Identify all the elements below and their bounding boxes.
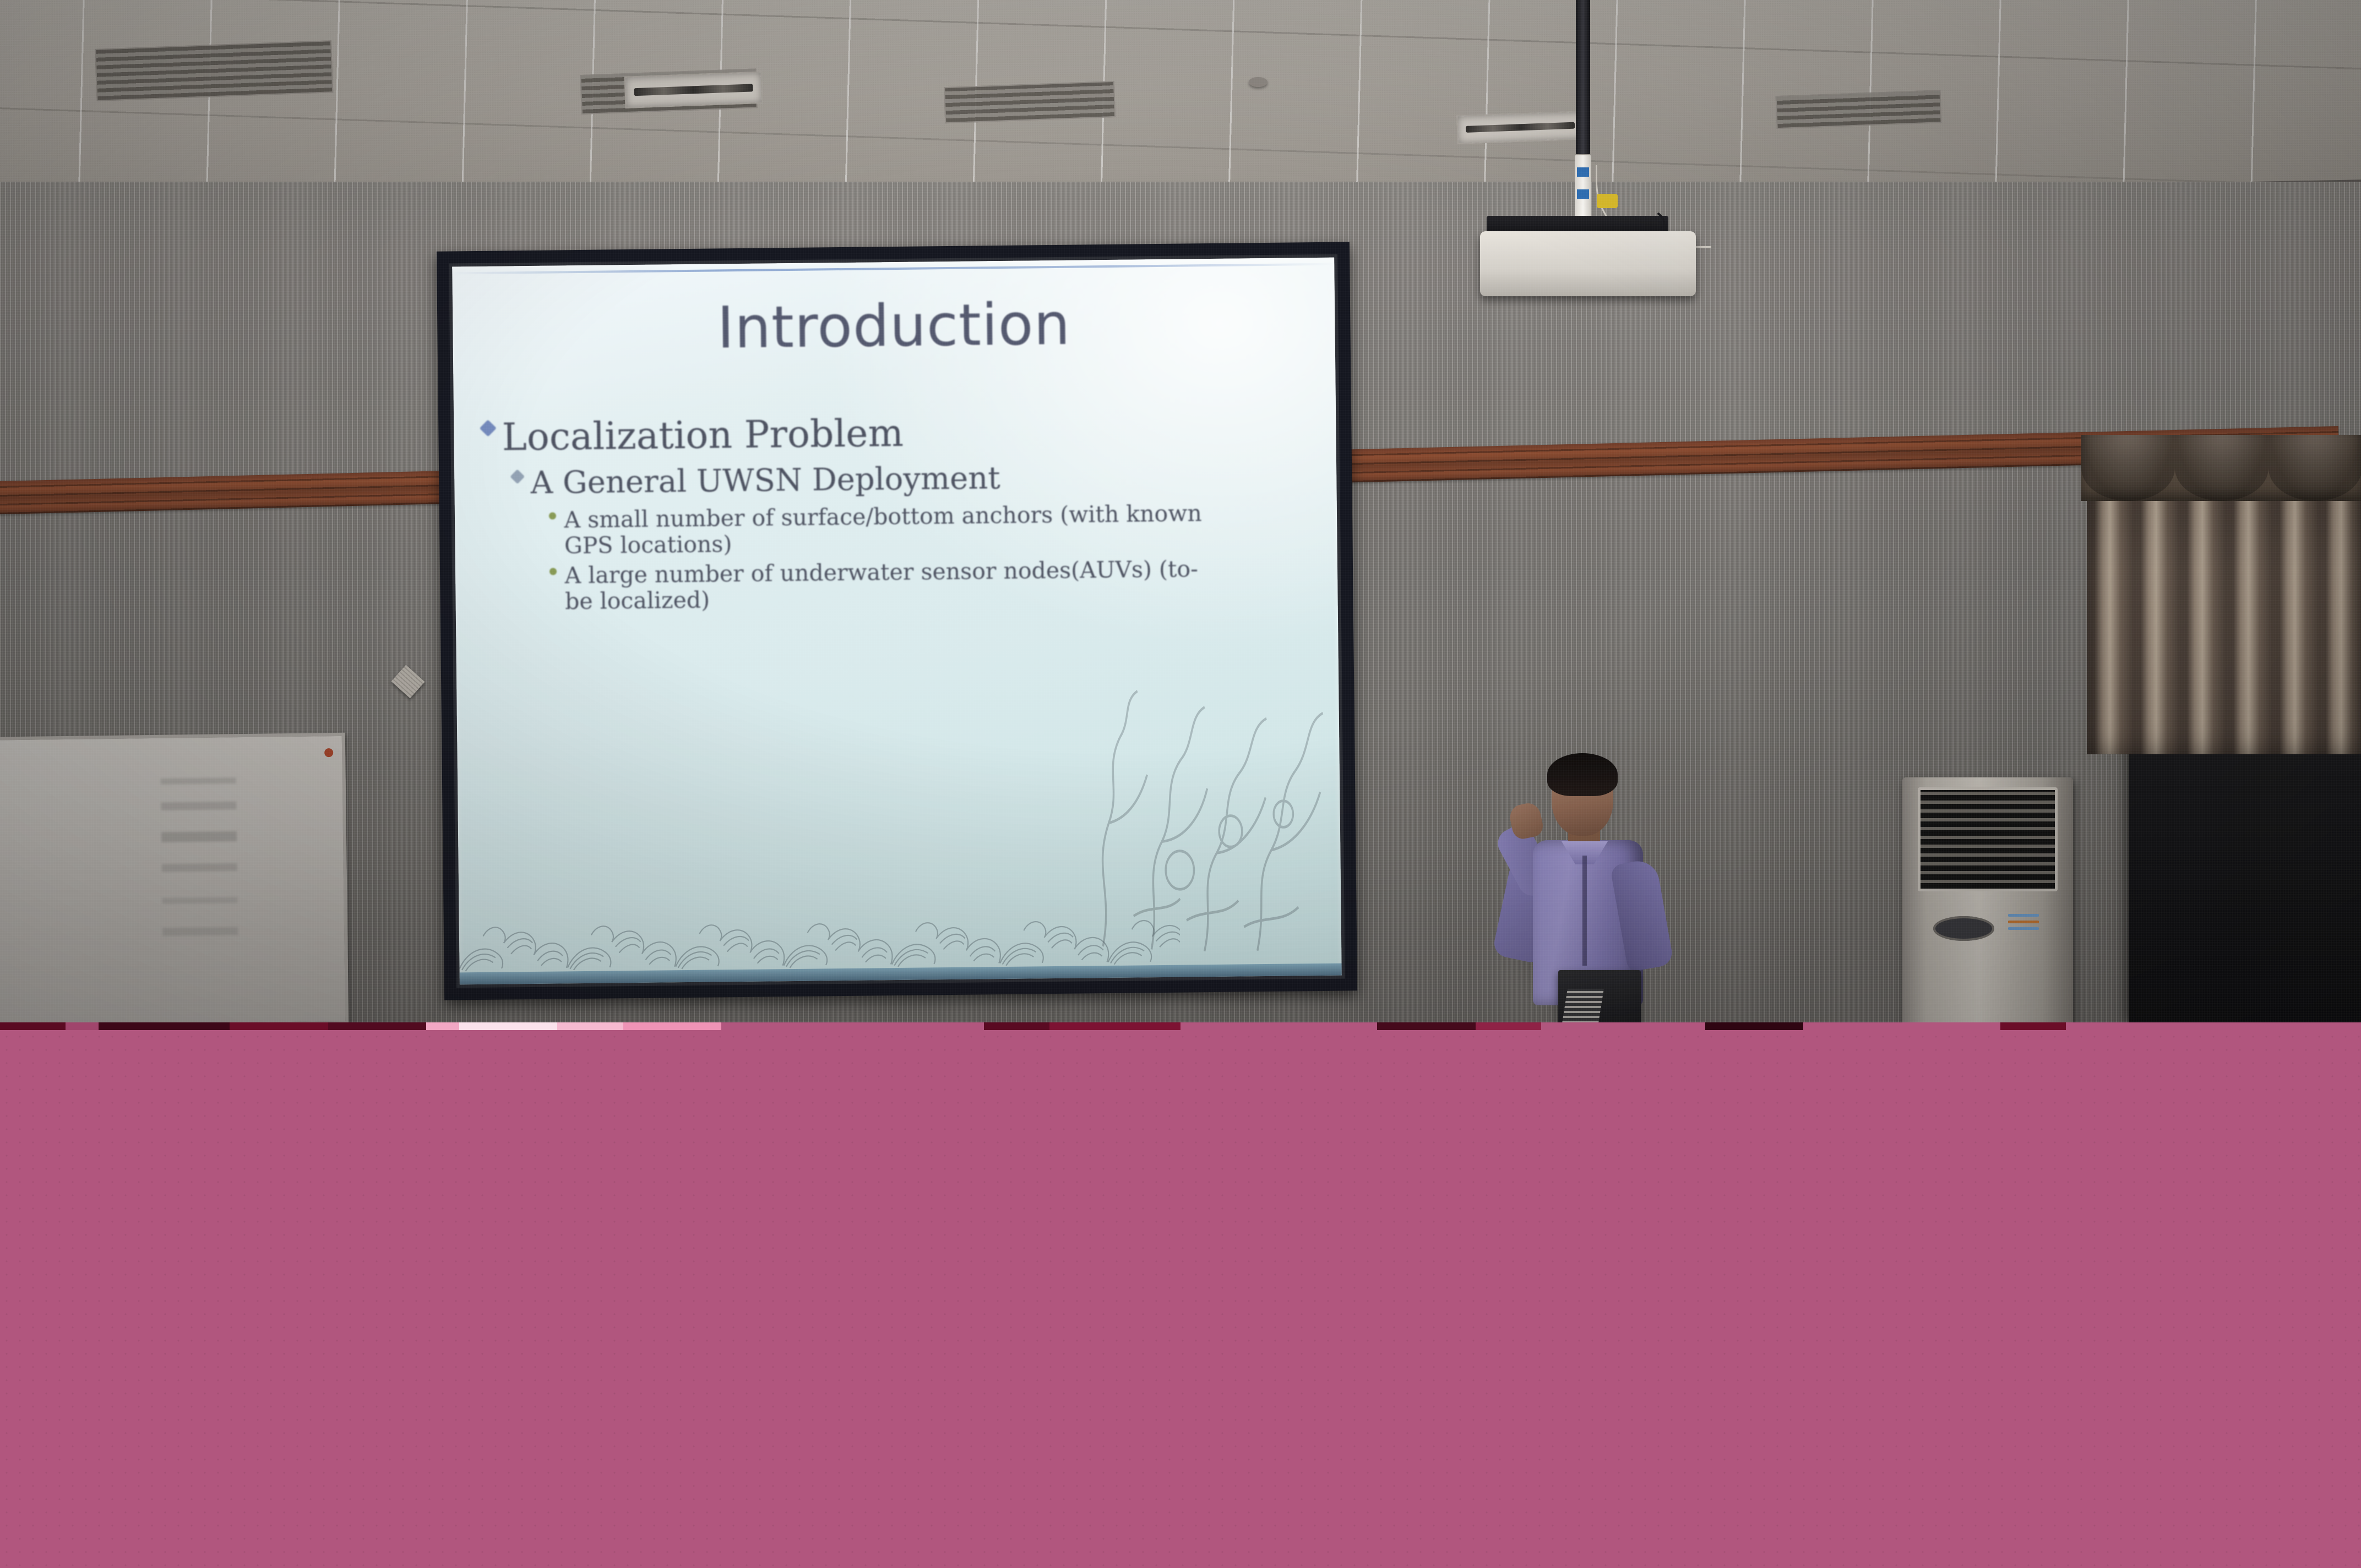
glitch-segment (99, 1022, 230, 1030)
glitch-segment (2066, 1022, 2361, 1030)
corruption-glitch-line (0, 1022, 2361, 1030)
glitch-segment (1180, 1022, 1377, 1030)
glitch-segment (984, 1022, 1049, 1030)
glitch-segment (623, 1022, 722, 1030)
glitch-segment (1705, 1022, 1804, 1030)
glitch-segment (557, 1022, 623, 1030)
glitch-segment (1476, 1022, 1541, 1030)
glitch-segment (426, 1022, 459, 1030)
conference-room-photo: Introduction Localization Problem (0, 0, 2361, 1022)
image-data-corruption-band (0, 1030, 2361, 1568)
glitch-segment (230, 1022, 328, 1030)
glitch-segment (328, 1022, 427, 1030)
glitch-segment (1541, 1022, 1705, 1030)
glitch-segment (1377, 1022, 1476, 1030)
glitch-segment (459, 1022, 558, 1030)
glitch-segment (1803, 1022, 2000, 1030)
glitch-segment (0, 1022, 66, 1030)
corruption-dither-pattern (0, 1030, 2361, 1568)
glitch-segment (66, 1022, 99, 1030)
glitch-segment (2000, 1022, 2066, 1030)
photo-grain (0, 0, 2361, 1022)
screenshot-canvas: Introduction Localization Problem (0, 0, 2361, 1568)
glitch-segment (1049, 1022, 1180, 1030)
glitch-segment (721, 1022, 983, 1030)
